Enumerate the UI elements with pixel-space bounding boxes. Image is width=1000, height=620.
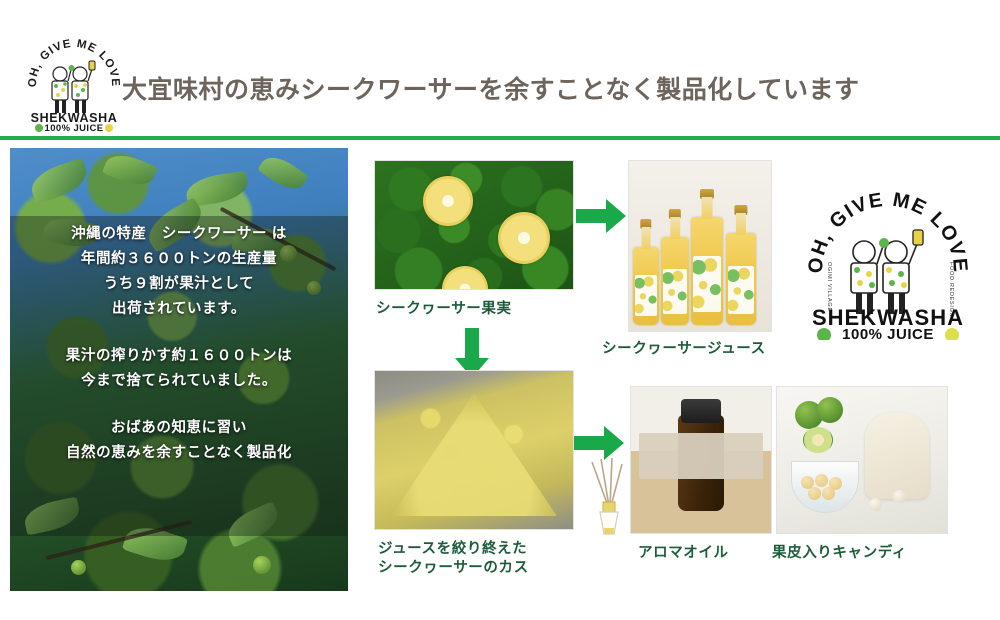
caption-kasu: ジュースを絞り終えた シークヮーサーのカス (378, 540, 529, 578)
overlay-line: 自然の恵みを余すことなく製品化 (10, 441, 348, 466)
caption-aroma: アロマオイル (638, 544, 729, 563)
overlay-block-3: おばあの知恵に習い 自然の恵みを余すことなく製品化 (10, 416, 348, 466)
page-title: 大宜味村の恵みシークワーサーを余すことなく製品化しています (122, 70, 860, 106)
caption-line: シークヮーサー果実 (376, 300, 512, 319)
aroma-oil-photo (630, 386, 772, 534)
caption-line: 果皮入りキャンディ (772, 544, 907, 563)
caption-fruit: シークヮーサー果実 (376, 300, 512, 319)
header-divider (0, 136, 1000, 140)
candy-pouch (865, 413, 929, 499)
overlay-block-2: 果汁の搾りかす約１６００トンは 今まで捨てられていました。 (10, 344, 348, 394)
overlay-line: 沖縄の特産 シークワーサー は (10, 222, 348, 247)
overlay-line: 果汁の搾りかす約１６００トンは (10, 344, 348, 369)
overlay-line: うち９割が果汁として (10, 272, 348, 297)
overlay-line: 年間約３６００トンの生産量 (10, 247, 348, 272)
kasu-pile (391, 393, 557, 516)
fruit-photo (374, 160, 574, 290)
caption-line: シークヮーサーのカス (378, 559, 529, 578)
big-logo-svg: OH, GIVE ME LOVE OGIMI VILLAGE FOOD REDE… (800, 190, 976, 340)
caption-juice: シークヮーサージュース (602, 340, 766, 359)
logo-arc-text: OH, GIVE ME LOVE (27, 38, 121, 88)
overlay-text: 沖縄の特産 シークワーサー は 年間約３６００トンの生産量 うち９割が果汁として… (10, 222, 348, 466)
tree-photo-panel: 沖縄の特産 シークワーサー は 年間約３６００トンの生産量 うち９割が果汁として… (10, 148, 348, 591)
kasu-photo (374, 370, 574, 530)
caption-line: アロマオイル (638, 544, 729, 563)
overlay-line: おばあの知恵に習い (10, 416, 348, 441)
overlay-block-1: 沖縄の特産 シークワーサー は 年間約３６００トンの生産量 うち９割が果汁として… (10, 222, 348, 322)
juice-photo (628, 160, 772, 332)
reed-diffuser-icon (582, 454, 634, 538)
logo-figures (52, 61, 95, 113)
brand-logo-svg: OH, GIVE ME LOVE SHEKWASHA (22, 27, 126, 132)
caption-line: シークヮーサージュース (602, 340, 766, 359)
candy-photo (776, 386, 948, 534)
aroma-bottle-label (639, 433, 763, 479)
caption-line: ジュースを絞り終えた (378, 540, 529, 559)
overlay-line: 出荷されています。 (10, 297, 348, 322)
shekwasha-big-logo: OH, GIVE ME LOVE OGIMI VILLAGE FOOD REDE… (800, 190, 976, 340)
caption-candy: 果皮入りキャンディ (772, 544, 907, 563)
logo-tagline: 100% JUICE (45, 123, 104, 132)
brand-logo: OH, GIVE ME LOVE SHEKWASHA (22, 27, 126, 132)
arrow-right-icon (574, 196, 628, 236)
big-logo-figures (851, 230, 923, 314)
big-logo-tagline: 100% JUICE (842, 326, 934, 340)
aroma-bottle-cap (681, 399, 721, 423)
overlay-line: 今まで捨てられていました。 (10, 369, 348, 394)
page-header: OH, GIVE ME LOVE SHEKWASHA (0, 0, 1000, 130)
product-flow-diagram: シークヮーサー果実 シークヮーサージュース ジュースを絞り終えた シークヮーサー… (360, 148, 990, 598)
